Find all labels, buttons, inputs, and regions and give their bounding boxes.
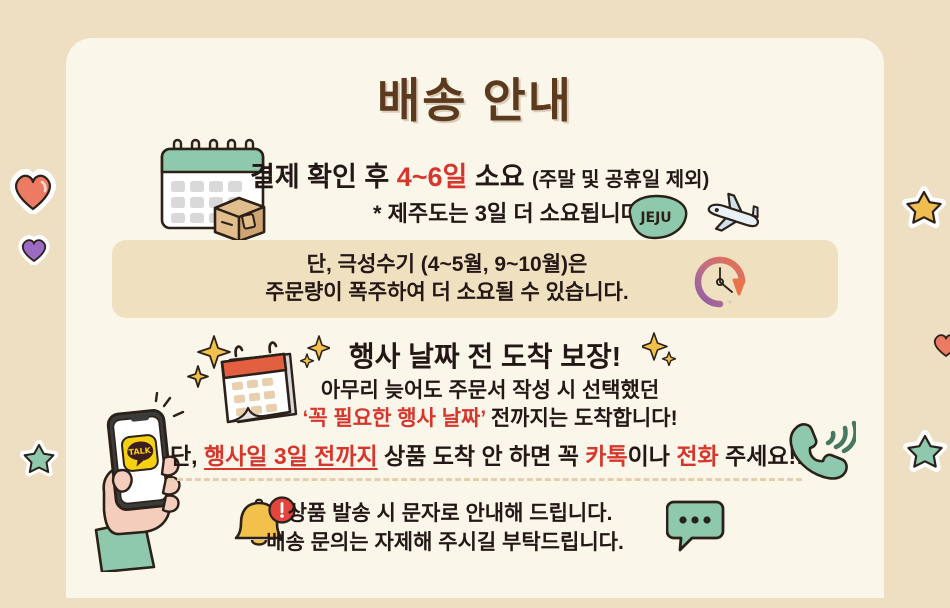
peak-season-line2: 주문량이 폭주하여 더 소요될 수 있습니다. [182,279,712,307]
payment-exclusion-note: (주말 및 공휴일 제외) [532,169,709,191]
payment-lead-time-line: 결제 확인 후 4~6일 소요 (주말 및 공휴일 제외) [250,155,850,194]
arrival-guarantee-line2: ‘꼭 필요한 행사 날짜’ 전까지는 도착합니다! [240,402,740,432]
shipping-sms-notice: 상품 발송 시 문자로 안내해 드립니다. [230,497,670,527]
star-sticker-mint-left [20,440,58,483]
phone-highlight: 전화 [676,443,718,469]
star-sticker-mint-right [903,430,947,479]
peak-season-line1: 단, 극성수기 (4~5월, 9~10월)은 [182,251,712,279]
page-title: 배송 안내 [0,62,950,131]
section-divider [168,478,802,481]
contact-text-e: 이나 [628,443,677,469]
peak-season-term: 극성수기 [338,253,415,276]
star-sticker-yellow-right [902,186,946,235]
peak-months: (4~5월, 9~10월)은 [415,253,587,276]
heart-sticker-coral-right [930,330,950,365]
airplane-icon [700,192,764,243]
payment-text-a: 결제 확인 후 [250,162,397,192]
heart-sticker-purple [18,235,50,270]
payment-text-b: 소요 [467,162,532,192]
peak-text-a: 단, [307,253,338,276]
contact-text-a: 단, [170,443,204,469]
event-date-highlight: ‘꼭 필요한 행사 날짜’ [302,407,485,430]
jeju-island-icon: JEJU [618,192,694,247]
event-date-rest: 전까지는 도착합니다! [486,407,678,430]
hand-holding-phone-icon: TALK [86,392,190,577]
contact-deadline-line: 단, 행사일 3일 전까지 상품 도착 안 하면 꼭 카톡이나 전화 주세요!! [170,437,790,471]
heart-sticker-coral [8,168,58,219]
contact-text-c: 상품 도착 안 하면 꼭 [378,443,586,469]
delivery-notice-banner: 배송 안내 [0,0,950,608]
contact-deadline-highlight: 행사일 3일 전까지 [204,443,378,469]
peak-season-text: 단, 극성수기 (4~5월, 9~10월)은 주문량이 폭주하여 더 소요될 수… [182,251,712,307]
peak-season-band: 단, 극성수기 (4~5월, 9~10월)은 주문량이 폭주하여 더 소요될 수… [112,240,838,318]
speech-bubble-icon [666,498,728,559]
arrival-guarantee-line1: 아무리 늦어도 주문서 작성 시 선택했던 [240,374,740,404]
payment-days-highlight: 4~6일 [397,162,468,192]
inquiry-request-notice: 배송 문의는 자제해 주시길 부탁드립니다. [215,526,675,556]
clock-arrow-icon [682,248,766,321]
arrival-guarantee-heading: 행사 날짜 전 도착 보장! [275,335,695,375]
jeju-label: JEJU [639,210,671,226]
kakao-highlight: 카톡 [585,443,627,469]
